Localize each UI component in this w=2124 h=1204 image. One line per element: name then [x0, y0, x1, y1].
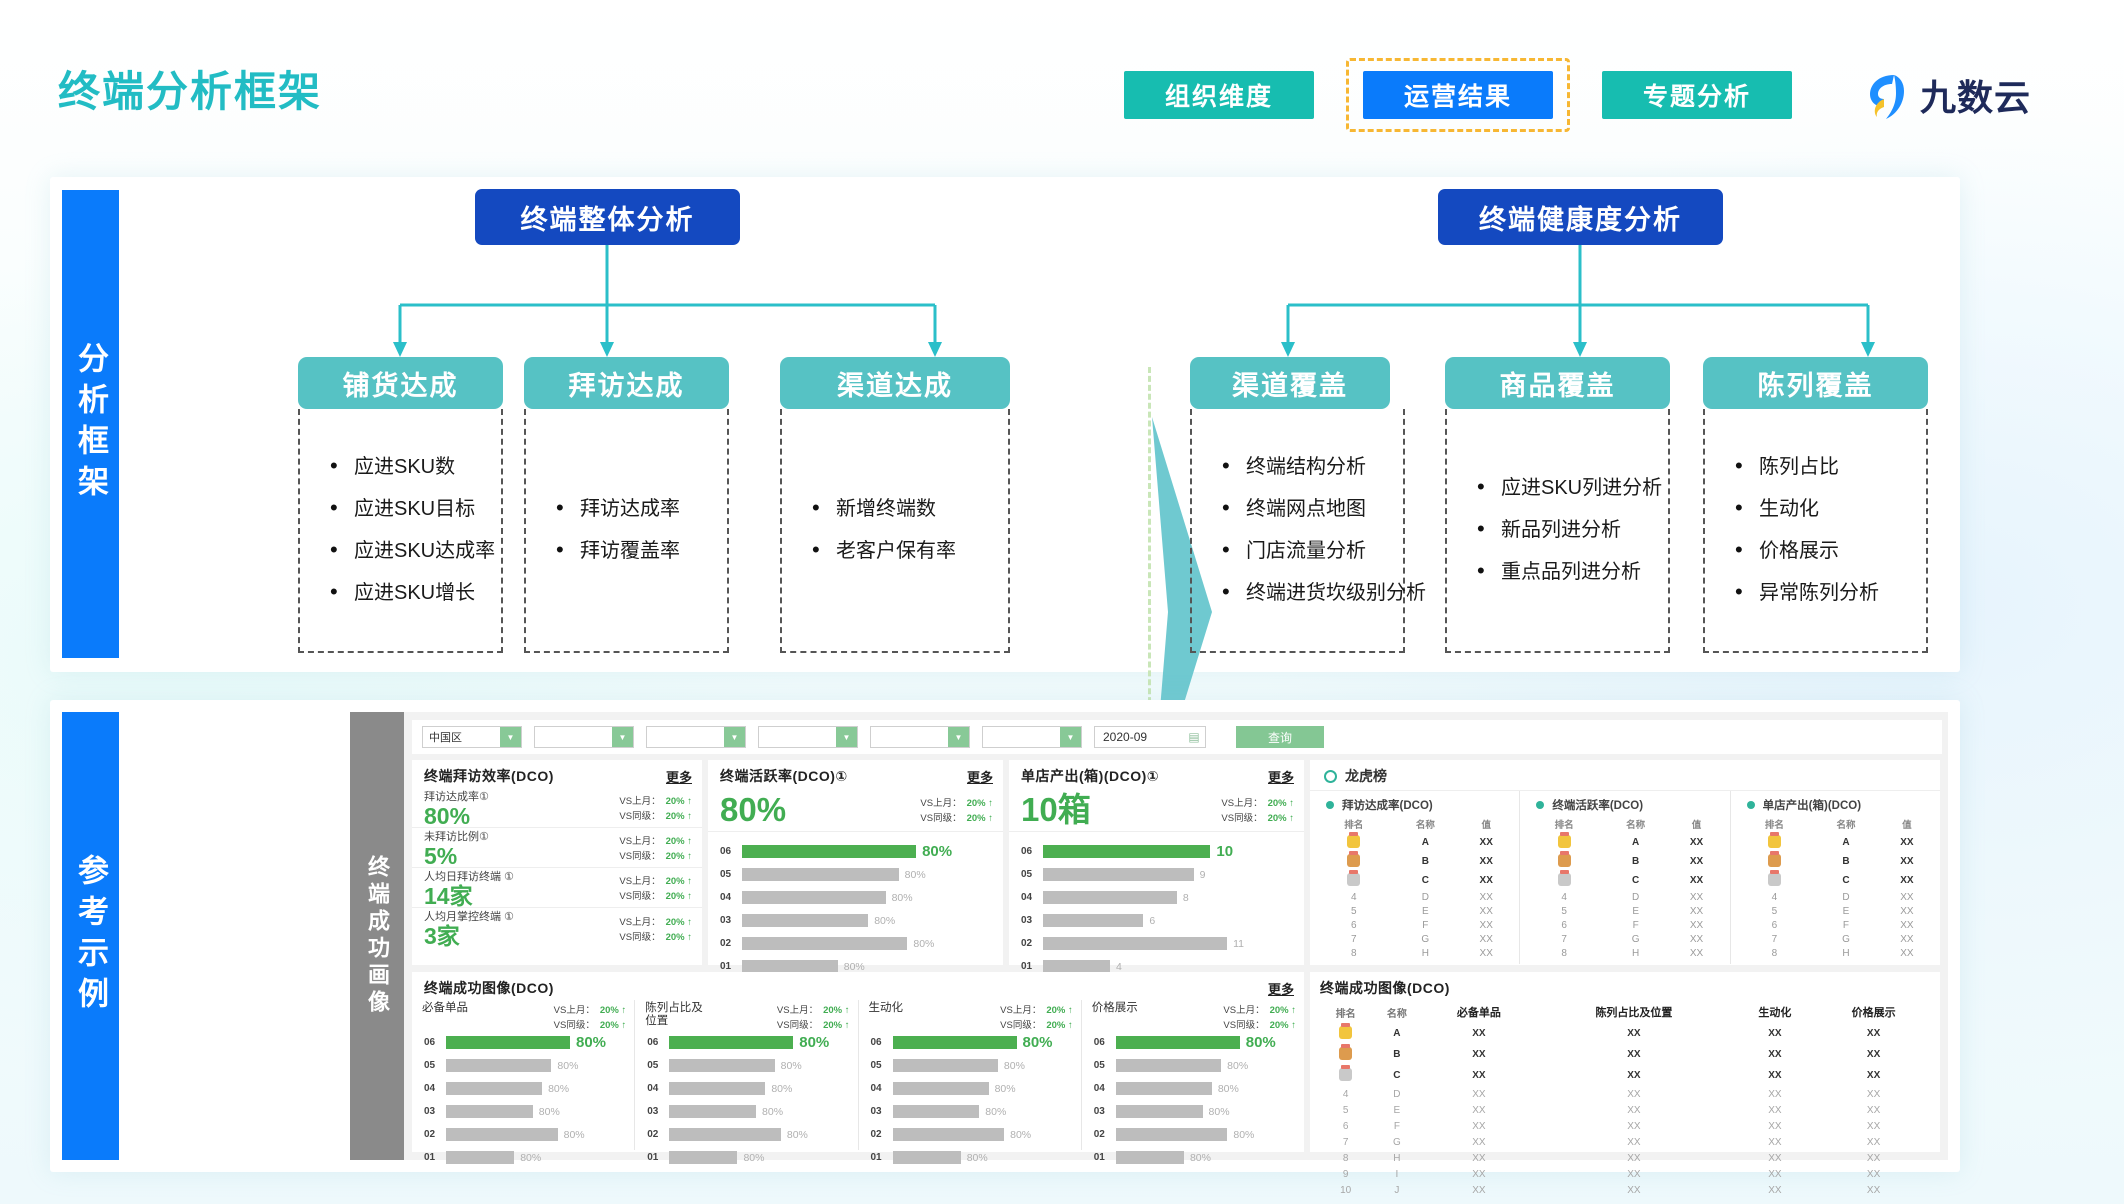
bar-row: 0180%	[635, 1146, 857, 1169]
card-active-title: 终端活跃率(DCO)①	[720, 766, 848, 786]
filter-select-3[interactable]: ▼	[758, 726, 858, 748]
bar-track: 80%	[446, 1128, 626, 1141]
bar-category-label: 06	[424, 1037, 446, 1048]
bar-row: 0280%	[635, 1123, 857, 1146]
card-active-more-link[interactable]: 更多	[967, 767, 993, 786]
rank-cell	[1320, 1044, 1371, 1065]
nav-bar: 组织维度 运营结果 专题分析 九数云	[1110, 58, 2031, 132]
value-cell: XX	[1461, 871, 1511, 890]
bar	[1116, 1105, 1203, 1118]
kpi-vs-peer: VS同级：20% ↑	[920, 810, 993, 824]
bar-category-label: 04	[424, 1083, 446, 1094]
kpi-vs-month-value: 20% ↑	[967, 798, 993, 809]
data-cell: XX	[1423, 1118, 1536, 1134]
filter-date-input[interactable]: 2020-09 ▤	[1094, 726, 1206, 748]
bar	[1043, 891, 1177, 904]
value-cell: XX	[1671, 946, 1721, 960]
kpi-vs-month: VS上月：20% ↑	[554, 1002, 627, 1016]
kpi-vs-month-label: VS上月：	[1000, 1005, 1041, 1016]
list-item: 新增终端数	[808, 499, 1000, 519]
calendar-icon: ▤	[1184, 728, 1204, 746]
list-item: 重点品列进分析	[1473, 562, 1660, 582]
medal-gold-icon	[1558, 835, 1571, 848]
bar	[1043, 868, 1194, 881]
profile-table-title: 终端成功图像(DCO)	[1320, 978, 1930, 1001]
medal-silver-icon	[1347, 873, 1360, 886]
value-cell: XX	[1671, 918, 1721, 932]
dot-icon	[1326, 801, 1334, 809]
rank-cell	[1318, 833, 1390, 852]
bar	[446, 1128, 558, 1141]
bar	[1116, 1059, 1221, 1072]
rank-table: 排名名称值AXXBXXCXX4DXX5EXX6FXX7GXX8HXX	[1739, 815, 1932, 960]
nav-wrap-2: 专题分析	[1588, 61, 1806, 129]
bar-category-label: 02	[720, 938, 742, 949]
kpi-vs-peer-label: VS同级：	[619, 851, 660, 862]
data-cell: XX	[1423, 1166, 1536, 1182]
bar-track: 80%	[669, 1151, 849, 1164]
table-row: 9IXXXXXXXX	[1320, 1166, 1930, 1182]
table-header-row: 排名名称必备单品陈列占比及位置生动化价格展示	[1320, 1001, 1930, 1023]
bar-row: 0680%	[859, 1031, 1081, 1054]
bar-value-label: 9	[1200, 869, 1206, 881]
bar-category-label: 01	[424, 1152, 446, 1163]
nav-tab-organization[interactable]: 组织维度	[1124, 71, 1314, 119]
bar-row: 0580%	[708, 863, 1003, 886]
kpi-vs-month-value: 20% ↑	[823, 1005, 849, 1016]
profile-charts-header: 终端成功图像(DCO) 更多	[412, 972, 1304, 1000]
bar-value-label: 6	[1149, 915, 1155, 927]
bar-track: 6	[1043, 914, 1296, 927]
bar-track: 80%	[742, 843, 995, 860]
name-cell: H	[1810, 946, 1882, 960]
table-row: 5EXXXXXXXX	[1320, 1102, 1930, 1118]
profile-chart-bars-3: 0680%0580%0480%0380%0280%0180%	[1082, 1031, 1304, 1169]
tree-left-leaf-1[interactable]: 拜访达成	[524, 357, 729, 409]
tree-left-bullets-1: 拜访达成率 拜访覆盖率	[524, 409, 729, 653]
bar	[446, 1082, 542, 1095]
kpi-vs-peer-label: VS同级：	[777, 1020, 818, 1031]
column-header: 值	[1671, 815, 1721, 833]
kpi-value: 3家	[424, 925, 514, 948]
dashboard-screenshot: 终端成功画像 中国区 ▼ ▼ ▼ ▼ ▼ ▼ 2020-09 ▤	[350, 712, 1948, 1160]
table-row: 8HXX	[1528, 946, 1721, 960]
tree-left-leaf-0[interactable]: 铺货达成	[298, 357, 503, 409]
bar-category-label: 06	[1021, 846, 1043, 857]
kpi-row: 未拜访比例① 5% VS上月：20% ↑ VS同级：20% ↑	[412, 828, 702, 868]
table-row: 8HXX	[1739, 946, 1932, 960]
rank-cell	[1528, 833, 1600, 852]
rank-cell: 4	[1320, 1086, 1371, 1102]
kpi-vs-peer-value: 20% ↑	[600, 1020, 626, 1031]
column-header: 名称	[1810, 815, 1882, 833]
name-cell: H	[1390, 946, 1462, 960]
name-cell: F	[1810, 918, 1882, 932]
table-row: 7GXX	[1739, 932, 1932, 946]
kpi-left: 人均日拜访终端 ① 14家	[424, 868, 514, 908]
kpi-vs-peer: VS同级：20% ↑	[619, 888, 692, 902]
kpi-compare: VS上月：20% ↑ VS同级：20% ↑	[619, 873, 692, 902]
kpi-row: 拜访达成率① 80% VS上月：20% ↑ VS同级：20% ↑	[412, 788, 702, 828]
name-cell: G	[1600, 932, 1672, 946]
kpi-vs-month-value: 20% ↑	[1046, 1005, 1072, 1016]
bar-row: 0180%	[1082, 1146, 1304, 1169]
kpi-row: 人均月掌控终端 ① 3家 VS上月：20% ↑ VS同级：20% ↑	[412, 908, 702, 948]
medal-bronze-icon	[1339, 1047, 1352, 1060]
column-header: 排名	[1318, 815, 1390, 833]
bar-track: 9	[1043, 868, 1296, 881]
data-cell: XX	[1423, 1134, 1536, 1150]
name-cell: C	[1810, 871, 1882, 890]
data-cell: XX	[1817, 1118, 1930, 1134]
filter-select-1[interactable]: ▼	[534, 726, 634, 748]
bar-value-label: 80%	[781, 1060, 802, 1072]
name-cell: I	[1371, 1166, 1422, 1182]
bar-row: 0580%	[635, 1054, 857, 1077]
profile-table: 排名名称必备单品陈列占比及位置生动化价格展示AXXXXXXXXBXXXXXXXX…	[1320, 1001, 1930, 1198]
rank-cell: 4	[1318, 890, 1390, 904]
framework-tree-left: 终端整体分析 铺货达成 应进SKU数 应进SKU目标	[280, 187, 1110, 667]
bar-track: 80%	[1116, 1034, 1296, 1051]
filter-row: 中国区 ▼ ▼ ▼ ▼ ▼ ▼ 2020-09 ▤ 查询	[412, 720, 1942, 754]
table-header-row: 排名名称值	[1528, 815, 1721, 833]
bar-row: 0280%	[859, 1123, 1081, 1146]
bar-value-label: 80%	[799, 1034, 829, 1051]
list-item: 终端网点地图	[1218, 499, 1395, 519]
bar-row: 0211	[1009, 932, 1304, 955]
card-output-value: 10箱	[1021, 793, 1091, 826]
kpi-vs-peer-label: VS同级：	[1000, 1020, 1041, 1031]
kpi-vs-month-label: VS上月：	[619, 836, 660, 847]
card-active-rate: 终端活跃率(DCO)① 更多 80% VS上月：20% ↑ VS同级：20% ↑…	[708, 760, 1003, 965]
name-cell: F	[1390, 918, 1462, 932]
list-item: 应进SKU增长	[326, 583, 493, 603]
bar-category-label: 03	[871, 1106, 893, 1117]
data-cell: XX	[1733, 1134, 1818, 1150]
name-cell: B	[1390, 852, 1462, 871]
tree-left-bullets-2: 新增终端数 老客户保有率	[780, 409, 1010, 653]
kpi-vs-month: VS上月：20% ↑	[619, 833, 692, 847]
bar-category-label: 05	[1094, 1060, 1116, 1071]
filter-region-select[interactable]: 中国区 ▼	[422, 726, 522, 748]
bar-row: 059	[1009, 863, 1304, 886]
bar	[446, 1036, 570, 1049]
filter-select-2[interactable]: ▼	[646, 726, 746, 748]
nav-tab-topic-analysis[interactable]: 专题分析	[1602, 71, 1792, 119]
value-cell: XX	[1461, 946, 1511, 960]
bar-category-label: 06	[647, 1037, 669, 1048]
data-cell: XX	[1535, 1044, 1732, 1065]
data-cell: XX	[1535, 1023, 1732, 1044]
rank-cell: 8	[1320, 1150, 1371, 1166]
rank-cell	[1320, 1065, 1371, 1086]
table-row: AXX	[1318, 833, 1511, 852]
name-cell: H	[1600, 946, 1672, 960]
bar-track: 80%	[669, 1082, 849, 1095]
value-cell: XX	[1882, 904, 1932, 918]
bar-value-label: 4	[1116, 961, 1122, 973]
kpi-compare: VS上月：20% ↑ VS同级：20% ↑	[1223, 1002, 1296, 1031]
value-cell: XX	[1461, 890, 1511, 904]
kpi-compare: VS上月：20% ↑ VS同级：20% ↑	[619, 833, 692, 862]
bar-track: 80%	[669, 1105, 849, 1118]
profile-chart-head-1: 陈列占比及位置 VS上月：20% ↑ VS同级：20% ↑	[635, 1000, 857, 1031]
list-item: 门店流量分析	[1218, 541, 1395, 561]
name-cell: D	[1371, 1086, 1422, 1102]
bar-value-label: 80%	[576, 1034, 606, 1051]
leaderboard-sub-2: 单店产出(箱)(DCO)	[1739, 795, 1932, 815]
bar-value-label: 8	[1183, 892, 1189, 904]
data-cell: XX	[1733, 1118, 1818, 1134]
rank-cell: 6	[1739, 918, 1811, 932]
bar	[742, 868, 899, 881]
kpi-vs-peer: VS同级：20% ↑	[1000, 1017, 1073, 1031]
bar	[446, 1059, 551, 1072]
profile-chart-bars-2: 0680%0580%0480%0380%0280%0180%	[859, 1031, 1081, 1169]
kpi-vs-month: VS上月：20% ↑	[920, 795, 993, 809]
kpi-vs-peer: VS同级：20% ↑	[777, 1017, 850, 1031]
bar	[669, 1128, 781, 1141]
medal-silver-icon	[1558, 873, 1571, 886]
name-cell: E	[1390, 904, 1462, 918]
profile-chart-label: 生动化	[869, 1002, 904, 1031]
name-cell: G	[1371, 1134, 1422, 1150]
bar-category-label: 05	[1021, 869, 1043, 880]
bar	[893, 1036, 1017, 1049]
kpi-vs-month-value: 20% ↑	[666, 836, 692, 847]
table-row: CXX	[1528, 871, 1721, 890]
table-row: 4DXXXXXXXX	[1320, 1086, 1930, 1102]
bar-category-label: 02	[647, 1129, 669, 1140]
name-cell: D	[1810, 890, 1882, 904]
kpi-vs-peer-value: 20% ↑	[666, 851, 692, 862]
kpi-vs-month: VS上月：20% ↑	[1221, 795, 1294, 809]
kpi-vs-month-label: VS上月：	[619, 796, 660, 807]
kpi-compare: VS上月：20% ↑ VS同级：20% ↑	[777, 1002, 850, 1031]
rank-cell	[1318, 871, 1390, 890]
kpi-vs-peer: VS同级：20% ↑	[619, 929, 692, 943]
bar-category-label: 03	[1021, 915, 1043, 926]
card-active-chart: 0680%0580%0480%0380%0280%0180%	[708, 832, 1003, 978]
bar-value-label: 80%	[520, 1152, 541, 1164]
data-cell: XX	[1733, 1023, 1818, 1044]
bar-category-label: 06	[871, 1037, 893, 1048]
kpi-value: 5%	[424, 845, 489, 868]
rank-cell	[1318, 852, 1390, 871]
list-item: 陈列占比	[1731, 457, 1918, 477]
card-output-kpi: 10箱 VS上月：20% ↑ VS同级：20% ↑	[1009, 788, 1304, 832]
card-active-kpi: 80% VS上月：20% ↑ VS同级：20% ↑	[708, 788, 1003, 832]
name-cell: E	[1810, 904, 1882, 918]
kpi-vs-month-value: 20% ↑	[666, 876, 692, 887]
bar	[1116, 1151, 1184, 1164]
name-cell: A	[1810, 833, 1882, 852]
profile-charts-more-link[interactable]: 更多	[1268, 979, 1294, 998]
profile-chart-head-0: 必备单品 VS上月：20% ↑ VS同级：20% ↑	[412, 1000, 634, 1031]
kpi-vs-peer-label: VS同级：	[619, 811, 660, 822]
value-cell: XX	[1461, 904, 1511, 918]
data-cell: XX	[1733, 1182, 1818, 1198]
bar-track: 80%	[893, 1105, 1073, 1118]
value-cell: XX	[1882, 833, 1932, 852]
bar	[742, 937, 907, 950]
value-cell: XX	[1671, 871, 1721, 890]
bar-track: 80%	[1116, 1082, 1296, 1095]
kpi-vs-month-label: VS上月：	[920, 798, 961, 809]
chevron-down-icon: ▼	[948, 727, 969, 747]
list-item: 新品列进分析	[1473, 520, 1660, 540]
nav-wrap-0: 组织维度	[1110, 61, 1328, 129]
bar-row: 0580%	[412, 1054, 634, 1077]
bar-track: 80%	[669, 1059, 849, 1072]
bar-track: 80%	[446, 1105, 626, 1118]
bar-track: 80%	[446, 1034, 626, 1051]
tree-right-leaf-2[interactable]: 陈列覆盖	[1703, 357, 1928, 409]
rank-cell: 7	[1739, 932, 1811, 946]
bar-row: 0280%	[412, 1123, 634, 1146]
name-cell: F	[1371, 1118, 1422, 1134]
kpi-row: 人均日拜访终端 ① 14家 VS上月：20% ↑ VS同级：20% ↑	[412, 868, 702, 908]
data-cell: XX	[1423, 1023, 1536, 1044]
leaderboard-tables: 拜访达成率(DCO) 排名名称值AXXBXXCXX4DXX5EXX6FXX7GX…	[1310, 790, 1940, 964]
framework-side-tab: 分析框架	[62, 190, 119, 658]
bar	[1043, 937, 1227, 950]
list-item: 价格展示	[1731, 541, 1918, 561]
chevron-down-icon: ▼	[612, 727, 633, 747]
card-output-more-link[interactable]: 更多	[1268, 767, 1294, 786]
table-row: AXXXXXXXX	[1320, 1023, 1930, 1044]
bar-category-label: 06	[720, 846, 742, 857]
table-row: 7GXX	[1318, 932, 1511, 946]
name-cell: C	[1390, 871, 1462, 890]
filter-select-4[interactable]: ▼	[870, 726, 970, 748]
column-header: 值	[1882, 815, 1932, 833]
profile-chart-label: 价格展示	[1092, 1002, 1138, 1031]
profile-chart-0: 必备单品 VS上月：20% ↑ VS同级：20% ↑ 0680%0580%048…	[412, 1000, 635, 1150]
bar-value-label: 80%	[743, 1152, 764, 1164]
data-cell: XX	[1733, 1044, 1818, 1065]
bar-track: 80%	[742, 937, 995, 950]
query-button[interactable]: 查询	[1236, 726, 1324, 748]
nav-tab-operation-result[interactable]: 运营结果	[1363, 71, 1553, 119]
rank-cell: 4	[1528, 890, 1600, 904]
framework-side-tab-label: 分析框架	[68, 342, 113, 506]
tree-left-leaf-2[interactable]: 渠道达成	[780, 357, 1010, 409]
bar-category-label: 01	[1021, 961, 1043, 972]
bar	[893, 1059, 998, 1072]
bar	[893, 1082, 989, 1095]
table-row: CXX	[1739, 871, 1932, 890]
bar	[893, 1151, 961, 1164]
kpi-vs-peer-value: 20% ↑	[1268, 813, 1294, 824]
bar-track: 8	[1043, 891, 1296, 904]
profile-chart-bars-1: 0680%0580%0480%0380%0280%0180%	[635, 1031, 857, 1169]
profile-chart-1: 陈列占比及位置 VS上月：20% ↑ VS同级：20% ↑ 0680%0580%…	[635, 1000, 858, 1150]
bar-value-label: 80%	[762, 1106, 783, 1118]
kpi-vs-peer-label: VS同级：	[1221, 813, 1262, 824]
bar-value-label: 80%	[995, 1083, 1016, 1095]
bar-category-label: 01	[871, 1152, 893, 1163]
leaderboard-sub-title: 拜访达成率(DCO)	[1342, 797, 1433, 813]
name-cell: B	[1371, 1044, 1422, 1065]
bar-row: 0480%	[859, 1077, 1081, 1100]
chevron-down-icon: ▼	[724, 727, 745, 747]
value-cell: XX	[1671, 890, 1721, 904]
leaderboard-header: 龙虎榜	[1310, 760, 1940, 790]
table-row: AXX	[1739, 833, 1932, 852]
value-cell: XX	[1671, 833, 1721, 852]
bar-row: 0380%	[412, 1100, 634, 1123]
filter-select-5[interactable]: ▼	[982, 726, 1082, 748]
bar-category-label: 05	[720, 869, 742, 880]
bar-row: 0380%	[635, 1100, 857, 1123]
card-visit-more-link[interactable]: 更多	[666, 767, 692, 786]
bar-row: 0280%	[1082, 1123, 1304, 1146]
bar-value-label: 80%	[922, 843, 952, 860]
bar-value-label: 80%	[539, 1106, 560, 1118]
rank-cell: 9	[1320, 1166, 1371, 1182]
column-header: 值	[1461, 815, 1511, 833]
name-cell: F	[1600, 918, 1672, 932]
rank-cell	[1739, 833, 1811, 852]
tree-right-leaf-0[interactable]: 渠道覆盖	[1190, 357, 1390, 409]
column-header: 名称	[1390, 815, 1462, 833]
list-item: 终端结构分析	[1218, 457, 1395, 477]
dashboard-gray-tab-label: 终端成功画像	[361, 855, 393, 1017]
rank-cell: 6	[1528, 918, 1600, 932]
bar-category-label: 03	[720, 915, 742, 926]
table-row: 6FXX	[1318, 918, 1511, 932]
chevron-down-icon: ▼	[1060, 727, 1081, 747]
card-visit-header: 终端拜访效率(DCO) 更多	[412, 760, 702, 788]
data-cell: XX	[1733, 1065, 1818, 1086]
bar-category-label: 05	[871, 1060, 893, 1071]
data-cell: XX	[1817, 1134, 1930, 1150]
bar-category-label: 04	[1094, 1083, 1116, 1094]
kpi-vs-peer-value: 20% ↑	[1046, 1020, 1072, 1031]
tree-right-leaf-1[interactable]: 商品覆盖	[1445, 357, 1670, 409]
bar	[1043, 845, 1210, 858]
list-item: 应进SKU达成率	[326, 541, 493, 561]
kpi-vs-month-label: VS上月：	[1221, 798, 1262, 809]
data-cell: XX	[1423, 1102, 1536, 1118]
list-item: 应进SKU列进分析	[1473, 478, 1660, 498]
card-store-output: 单店产出(箱)(DCO)① 更多 10箱 VS上月：20% ↑ VS同级：20%…	[1009, 760, 1304, 965]
kpi-vs-month: VS上月：20% ↑	[1000, 1002, 1073, 1016]
bar-value-label: 80%	[1023, 1034, 1053, 1051]
bar-value-label: 80%	[844, 961, 865, 973]
bar-category-label: 02	[1094, 1129, 1116, 1140]
kpi-compare: VS上月：20% ↑ VS同级：20% ↑	[1000, 1002, 1073, 1031]
bar	[446, 1151, 514, 1164]
kpi-vs-peer-value: 20% ↑	[666, 932, 692, 943]
bar	[742, 845, 916, 858]
brand-logo: 九数云	[1864, 69, 2031, 121]
rank-cell: 7	[1318, 932, 1390, 946]
bar-row: 0180%	[859, 1146, 1081, 1169]
bar-track: 80%	[893, 1128, 1073, 1141]
table-row: 8HXXXXXXXX	[1320, 1150, 1930, 1166]
bar-row: 0180%	[412, 1146, 634, 1169]
data-cell: XX	[1817, 1044, 1930, 1065]
rank-cell	[1739, 871, 1811, 890]
data-cell: XX	[1817, 1086, 1930, 1102]
nav-wrap-1: 运营结果	[1346, 58, 1570, 132]
rank-cell: 5	[1318, 904, 1390, 918]
rank-cell: 8	[1318, 946, 1390, 960]
dashboard-body: 中国区 ▼ ▼ ▼ ▼ ▼ ▼ 2020-09 ▤ 查询	[404, 712, 1948, 1160]
value-cell: XX	[1461, 918, 1511, 932]
